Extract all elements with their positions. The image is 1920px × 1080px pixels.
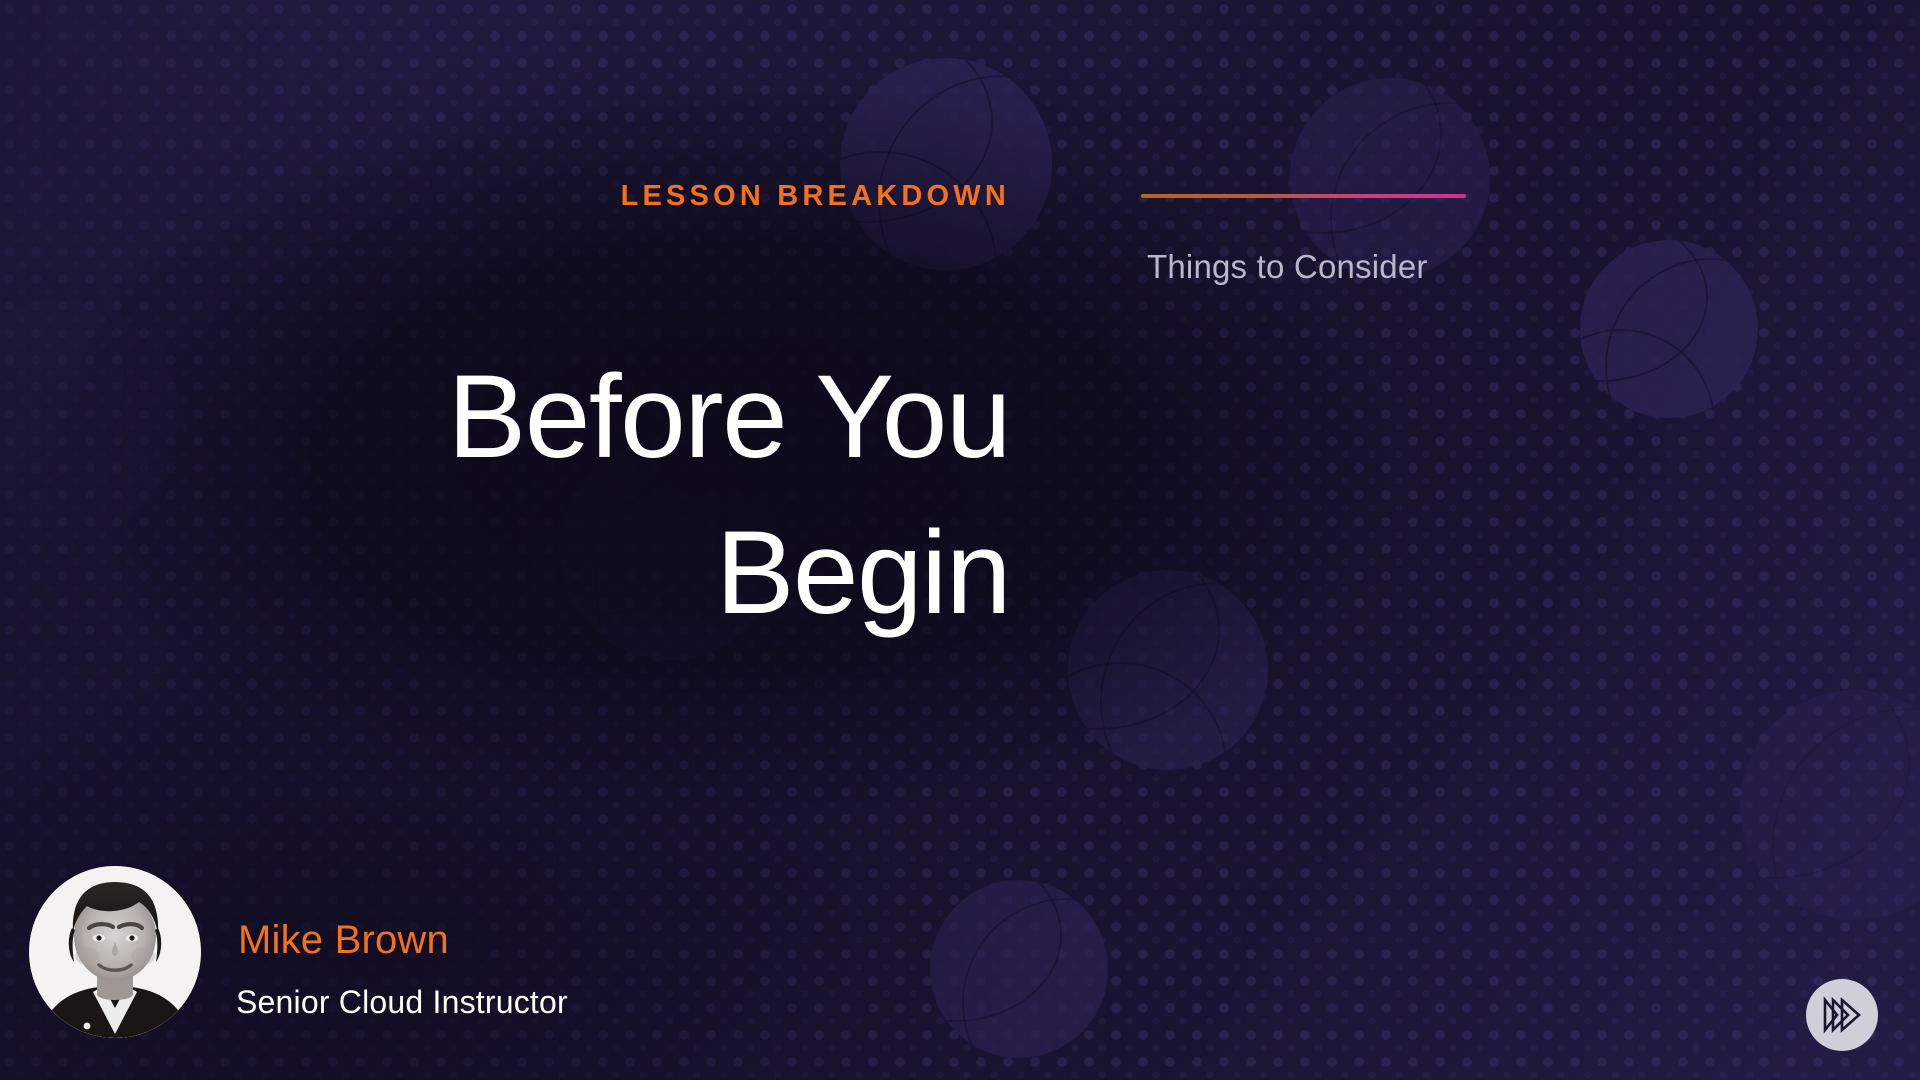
presenter-role: Senior Cloud Instructor — [236, 984, 568, 1021]
presentation-slide: Lesson Breakdown Things to Consider Befo… — [0, 0, 1920, 1080]
presenter-name: Mike Brown — [238, 918, 449, 963]
title-line-1: Before You — [448, 351, 1010, 483]
eyebrow-label: Lesson Breakdown — [0, 180, 1010, 213]
accent-divider-rule — [1141, 194, 1466, 198]
avatar — [29, 866, 201, 1038]
page-title: Before You Begin — [300, 340, 1010, 652]
slide-content: Lesson Breakdown Things to Consider Befo… — [0, 0, 1920, 1080]
brand-logo-badge[interactable] — [1806, 979, 1878, 1051]
section-label: Things to Consider — [1147, 248, 1428, 286]
title-line-2: Begin — [300, 496, 1010, 652]
double-play-logo-icon — [1820, 995, 1864, 1035]
